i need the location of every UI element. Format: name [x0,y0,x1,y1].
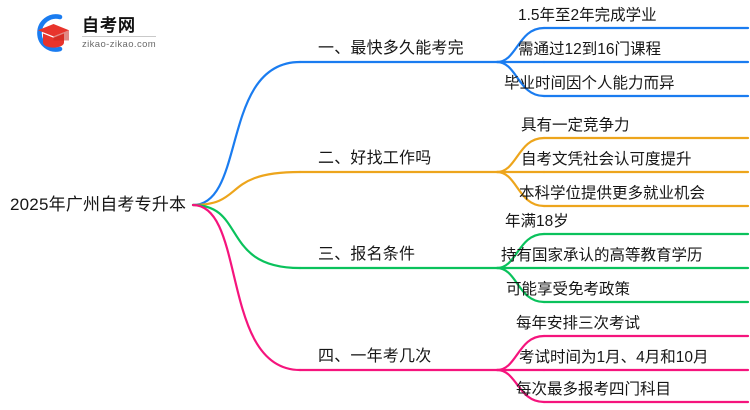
mindmap-branch-label[interactable]: 二、好找工作吗 [318,151,431,167]
mindmap-leaf-label[interactable]: 年满18岁 [505,214,569,230]
mindmap-leaf-label[interactable]: 具有一定竞争力 [521,118,630,134]
mindmap-leaf-label[interactable]: 自考文凭社会认可度提升 [521,152,692,168]
mindmap-root-label[interactable]: 2025年广州自考专升本 [10,196,186,213]
mindmap-connector [193,205,300,370]
mindmap-connector [193,62,300,205]
mindmap-leaf-label[interactable]: 1.5年至2年完成学业 [518,8,657,24]
mindmap-leaf-label[interactable]: 毕业时间因个人能力而异 [504,76,675,92]
mindmap-leaf-label[interactable]: 每次最多报考四门科目 [516,382,671,398]
mindmap-leaf-label[interactable]: 每年安排三次考试 [516,316,640,332]
mindmap-leaf-label[interactable]: 可能享受免考政策 [506,282,630,298]
mindmap-leaf-label[interactable]: 本科学位提供更多就业机会 [519,186,705,202]
mindmap: 1.5年至2年完成学业需通过12到16门课程毕业时间因个人能力而异一、最快多久能… [0,0,750,410]
mindmap-branch-label[interactable]: 四、一年考几次 [318,349,431,365]
mindmap-leaf-label[interactable]: 持有国家承认的高等教育学历 [501,248,703,264]
mindmap-branch-label[interactable]: 三、报名条件 [318,247,415,263]
mindmap-leaf-label[interactable]: 考试时间为1月、4月和10月 [519,350,708,366]
mindmap-connector [193,205,300,268]
mindmap-leaf-label[interactable]: 需通过12到16门课程 [518,42,661,58]
mindmap-branch-label[interactable]: 一、最快多久能考完 [318,41,464,57]
